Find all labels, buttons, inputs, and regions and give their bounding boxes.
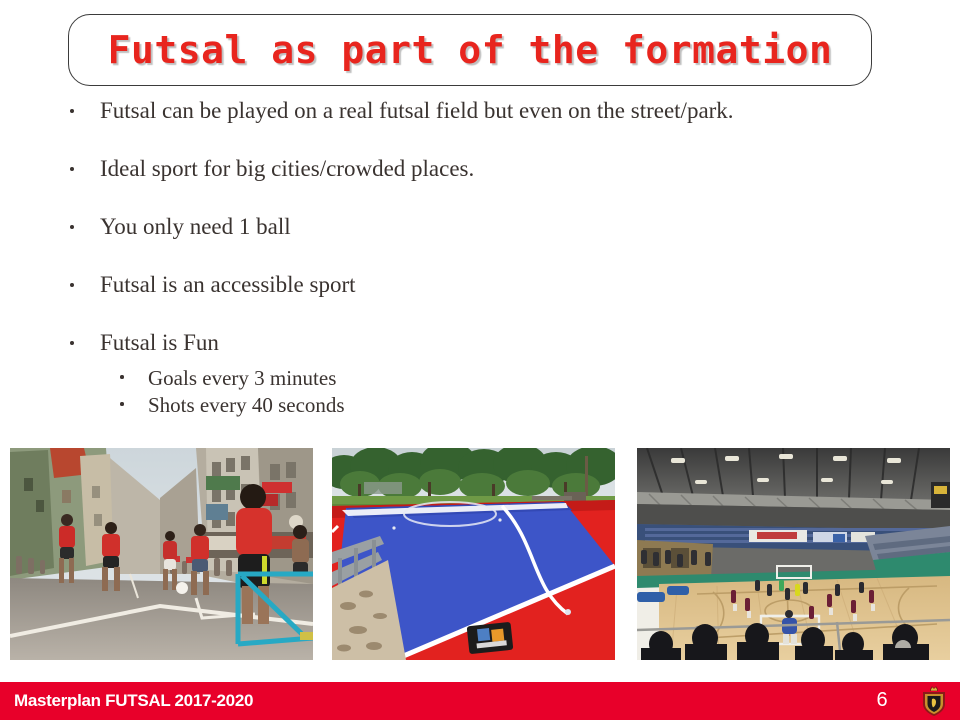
list-item: You only need 1 ball [0, 214, 960, 272]
bullet-dot-icon [70, 283, 74, 287]
list-item: Shots every 40 seconds [0, 393, 960, 420]
list-item: Futsal is an accessible sport [0, 272, 960, 330]
bullet-dot-icon [70, 341, 74, 345]
photo-strip [0, 448, 960, 660]
list-item-label: Ideal sport for big cities/crowded place… [100, 156, 960, 182]
outdoor-court-photo [332, 448, 615, 660]
belgian-football-crest-icon [919, 684, 949, 718]
page-number: 6 [870, 689, 894, 712]
footer-title: Masterplan FUTSAL 2017-2020 [14, 691, 253, 711]
list-item: Ideal sport for big cities/crowded place… [0, 156, 960, 214]
list-item-label: Futsal is an accessible sport [100, 272, 960, 298]
list-item-label: Futsal is Fun [100, 330, 960, 356]
bullet-dot-icon [70, 225, 74, 229]
list-item-label: Shots every 40 seconds [148, 393, 960, 417]
footer-bar: Masterplan FUTSAL 2017-2020 6 [0, 682, 960, 720]
bullet-list: Futsal can be played on a real futsal fi… [0, 98, 960, 420]
indoor-arena-photo [637, 448, 950, 660]
list-item: Futsal can be played on a real futsal fi… [0, 98, 960, 156]
bullet-dot-icon [70, 109, 74, 113]
list-item-label: Goals every 3 minutes [148, 366, 960, 390]
bullet-dot-icon [120, 402, 124, 406]
list-item-label: Futsal can be played on a real futsal fi… [100, 98, 960, 124]
list-item-label: You only need 1 ball [100, 214, 960, 240]
list-item: Futsal is Fun [0, 330, 960, 366]
page-title: Futsal as part of the formation [69, 28, 871, 72]
slide-title-box: Futsal as part of the formation [68, 14, 872, 86]
list-item: Goals every 3 minutes [0, 366, 960, 393]
bullet-dot-icon [120, 375, 124, 379]
bullet-dot-icon [70, 167, 74, 171]
street-futsal-photo [10, 448, 313, 660]
